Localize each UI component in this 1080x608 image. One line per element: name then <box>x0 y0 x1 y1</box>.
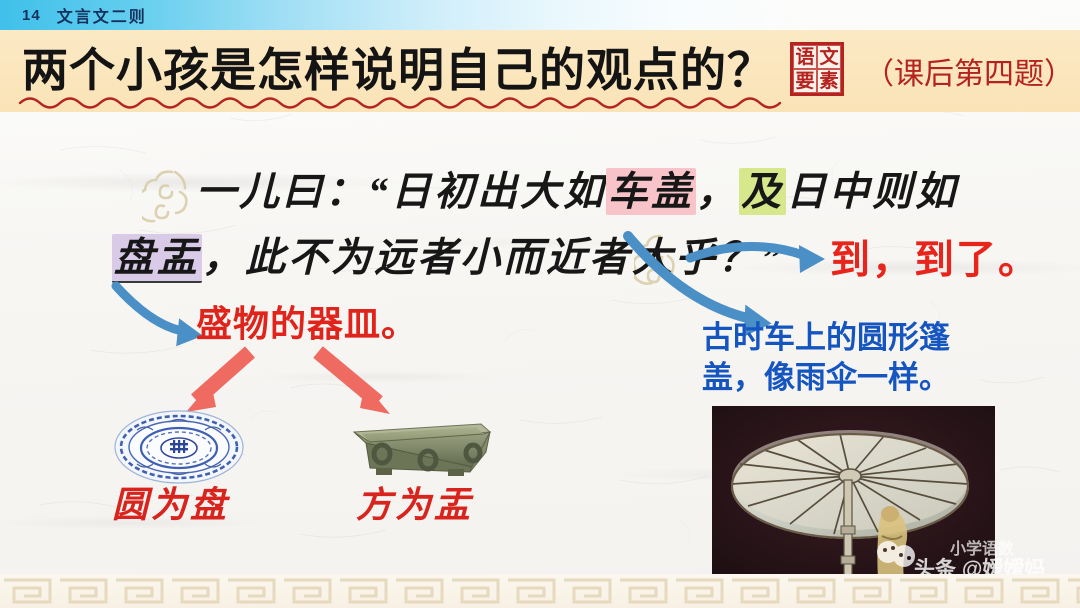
cloud-ornament-icon <box>142 166 200 228</box>
seal-char-yao: 要 <box>793 69 817 93</box>
yuwen-yaosu-seal: 语 文 要 素 <box>790 42 844 96</box>
porcelain-plate-image <box>113 408 245 486</box>
red-arrow-to-vessel <box>318 352 390 414</box>
passage-line-1: 一儿曰：“日初出大如车盖，及日中则如 <box>196 172 958 212</box>
annotation-pengai: 古时车上的圆形篷 盖，像雨伞一样。 <box>702 318 1012 397</box>
passage-l1-seg-e: 日中则如 <box>786 169 958 214</box>
lesson-header-bar <box>0 0 1080 30</box>
exercise-reference: （课后第四题） <box>864 49 1074 93</box>
passage-l1-seg-a: 一儿曰：“日初出大如 <box>196 169 606 214</box>
red-arrow-to-plate <box>186 352 250 412</box>
seal-char-su: 素 <box>817 69 841 93</box>
title-wavy-underline <box>18 92 808 110</box>
passage-l1-seg-c: ， <box>696 169 739 214</box>
label-fang-wei-yu: 方为盂 <box>356 487 473 523</box>
chariot-canopy-photo <box>712 406 995 578</box>
seal-char-wen: 文 <box>817 45 841 69</box>
label-yuan-wei-pan: 圆为盘 <box>112 487 229 523</box>
bronze-vessel-image <box>340 410 495 482</box>
highlight-chegai: 车盖 <box>606 168 696 215</box>
highlight-panyu: 盘盂 <box>112 234 202 283</box>
highlight-ji: 及 <box>739 168 786 215</box>
annotation-pengai-line-1: 古时车上的圆形篷 <box>702 318 1012 358</box>
blue-arrow-to-qimin <box>116 286 205 350</box>
meander-border <box>0 574 1080 608</box>
page-title: 两个小孩是怎样说明自己的观点的？ <box>22 48 774 94</box>
slide-canvas: 14 文言文二则 两个小孩是怎样说明自己的观点的？ 语 文 要 素 （课后第四题… <box>0 0 1080 608</box>
lesson-title: 文言文二则 <box>57 3 147 27</box>
passage-line-2: 盘盂，此不为远者小而近者大乎？” <box>112 238 784 278</box>
annotation-qimin: 盛物的器皿。 <box>196 306 418 342</box>
lesson-header-label: 14 文言文二则 <box>22 4 147 26</box>
annotation-daole: 到，到了。 <box>830 240 1040 280</box>
seal-char-yu: 语 <box>793 45 817 69</box>
passage-l2-seg-b: ，此不为远者小而近者大乎？” <box>202 235 784 280</box>
lesson-number: 14 <box>22 7 41 24</box>
annotation-pengai-line-2: 盖，像雨伞一样。 <box>702 358 1012 398</box>
